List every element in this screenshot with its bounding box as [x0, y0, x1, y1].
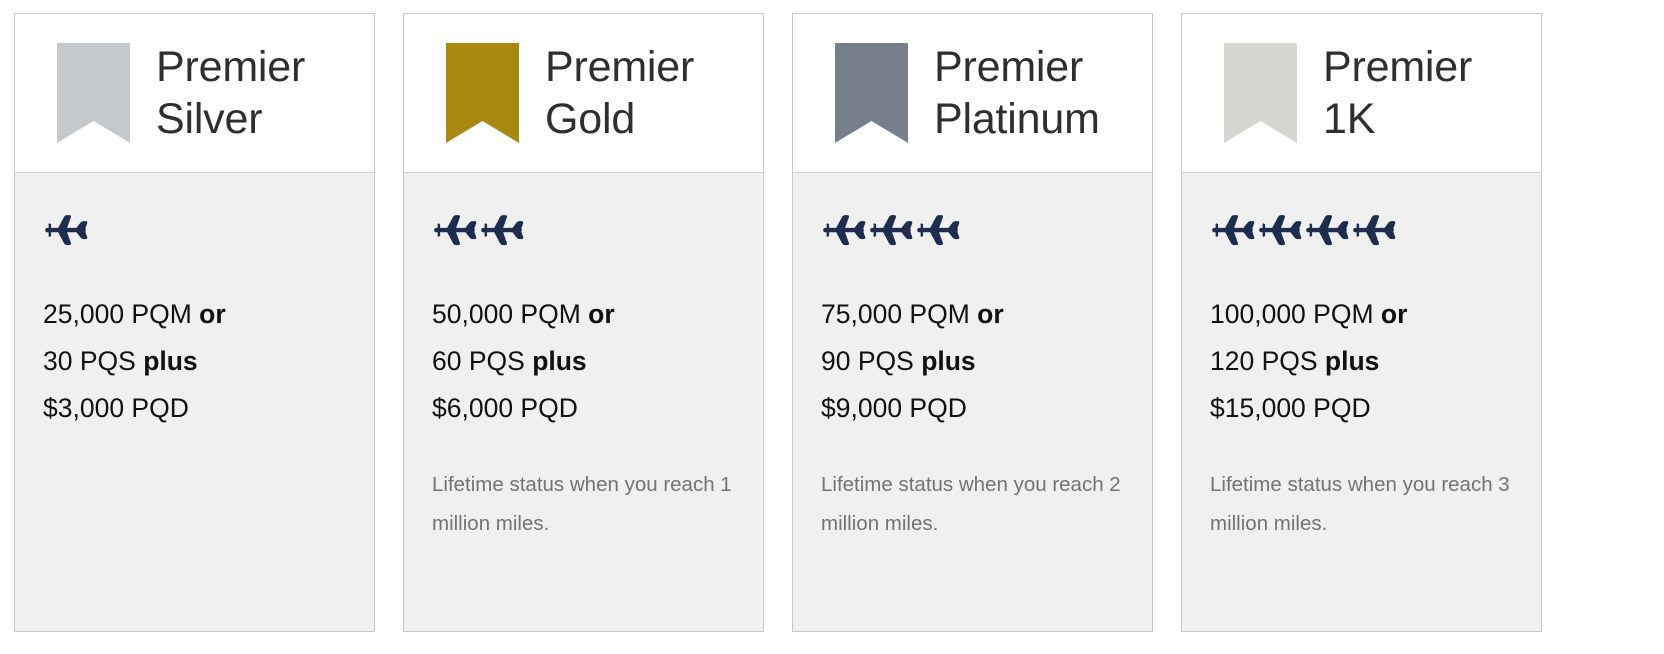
tier-requirements: 100,000 PQM or120 PQS plus$15,000 PQD: [1210, 291, 1515, 432]
tier-card-premier-platinum[interactable]: Premier Platinum75,000 PQM or90 PQS plus…: [792, 14, 1153, 632]
requirement-pqd-value: $15,000 PQD: [1210, 393, 1371, 423]
tier-requirements: 50,000 PQM or60 PQS plus$6,000 PQD: [432, 291, 737, 432]
airplane-icon: [1304, 209, 1350, 251]
tier-title: Premier Gold: [545, 41, 694, 145]
tier-card-header: Premier Platinum: [792, 13, 1153, 173]
airplane-icon: [1351, 209, 1397, 251]
requirement-conjunction-plus: plus: [532, 346, 586, 376]
lifetime-status-note: Lifetime status when you reach 1 million…: [432, 465, 732, 543]
tier-plane-rating: [821, 207, 1126, 253]
requirement-conjunction-plus: plus: [921, 346, 975, 376]
airplane-icon: [915, 209, 961, 251]
requirement-pqd-value: $6,000 PQD: [432, 393, 578, 423]
requirement-pqd-value: $3,000 PQD: [43, 393, 189, 423]
requirement-pqm-value: 25,000 PQM: [43, 299, 192, 329]
requirement-conjunction-or: or: [977, 299, 1004, 329]
tier-requirements: 25,000 PQM or30 PQS plus$3,000 PQD: [43, 291, 348, 432]
requirement-conjunction-plus: plus: [1325, 346, 1379, 376]
ribbon-icon: [1224, 43, 1297, 143]
requirement-pqm-value: 50,000 PQM: [432, 299, 581, 329]
tier-card-body: 25,000 PQM or30 PQS plus$3,000 PQD: [15, 173, 374, 631]
requirement-pqm-value: 75,000 PQM: [821, 299, 970, 329]
ribbon-icon: [57, 43, 130, 143]
tier-title: Premier Platinum: [934, 41, 1100, 145]
tier-requirements: 75,000 PQM or90 PQS plus$9,000 PQD: [821, 291, 1126, 432]
tier-card-premier-gold[interactable]: Premier Gold50,000 PQM or60 PQS plus$6,0…: [403, 14, 764, 632]
requirement-pqs-value: 60 PQS: [432, 346, 525, 376]
tier-card-header: Premier Gold: [403, 13, 764, 173]
airplane-icon: [432, 209, 478, 251]
tier-card-body: 75,000 PQM or90 PQS plus$9,000 PQDLifeti…: [793, 173, 1152, 631]
requirement-conjunction-or: or: [199, 299, 226, 329]
tier-card-body: 100,000 PQM or120 PQS plus$15,000 PQDLif…: [1182, 173, 1541, 631]
requirement-pqs-value: 30 PQS: [43, 346, 136, 376]
airplane-icon: [43, 209, 89, 251]
airplane-icon: [1257, 209, 1303, 251]
tier-plane-rating: [432, 207, 737, 253]
tier-card-premier-silver[interactable]: Premier Silver25,000 PQM or30 PQS plus$3…: [14, 14, 375, 632]
ribbon-icon: [446, 43, 519, 143]
tier-title: Premier Silver: [156, 41, 305, 145]
airplane-icon: [1210, 209, 1256, 251]
tier-plane-rating: [43, 207, 348, 253]
lifetime-status-note: Lifetime status when you reach 3 million…: [1210, 465, 1510, 543]
tier-card-header: Premier Silver: [14, 13, 375, 173]
airplane-icon: [821, 209, 867, 251]
requirement-conjunction-plus: plus: [143, 346, 197, 376]
ribbon-icon: [835, 43, 908, 143]
premier-tier-card-grid: Premier Silver25,000 PQM or30 PQS plus$3…: [14, 14, 1650, 632]
tier-card-header: Premier 1K: [1181, 13, 1542, 173]
lifetime-status-note: Lifetime status when you reach 2 million…: [821, 465, 1121, 543]
airplane-icon: [868, 209, 914, 251]
requirement-pqs-value: 90 PQS: [821, 346, 914, 376]
requirement-pqd-value: $9,000 PQD: [821, 393, 967, 423]
airplane-icon: [479, 209, 525, 251]
tier-plane-rating: [1210, 207, 1515, 253]
tier-title: Premier 1K: [1323, 41, 1472, 145]
requirement-pqs-value: 120 PQS: [1210, 346, 1318, 376]
tier-card-premier-1k[interactable]: Premier 1K100,000 PQM or120 PQS plus$15,…: [1181, 14, 1542, 632]
requirement-conjunction-or: or: [588, 299, 615, 329]
tier-card-body: 50,000 PQM or60 PQS plus$6,000 PQDLifeti…: [404, 173, 763, 631]
requirement-pqm-value: 100,000 PQM: [1210, 299, 1374, 329]
requirement-conjunction-or: or: [1381, 299, 1408, 329]
